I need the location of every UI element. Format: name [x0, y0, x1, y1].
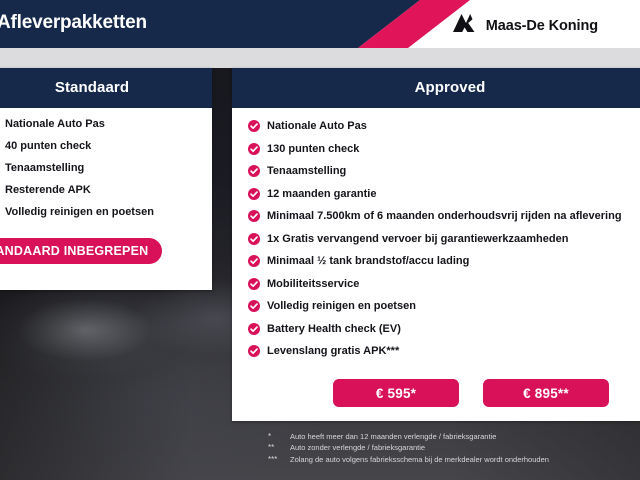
- list-item: Nationale Auto Pas: [0, 118, 198, 131]
- card-standaard: Standaard Nationale Auto Pas: [0, 68, 212, 290]
- feature-label: Volledig reinigen en poetsen: [267, 300, 416, 313]
- list-item: Tenaamstelling: [0, 162, 198, 175]
- check-circle-icon: [248, 345, 260, 357]
- feature-label: 12 maanden garantie: [267, 188, 376, 201]
- list-item: 40 punten check: [0, 140, 198, 153]
- price-button-row: € 595* € 895**: [232, 379, 640, 407]
- feature-label: Minimaal ½ tank brandstof/accu lading: [267, 255, 469, 268]
- price-button-595[interactable]: € 595*: [333, 379, 459, 407]
- page-title: Afleverpakketten: [0, 12, 147, 34]
- list-item: 12 maanden garantie: [248, 188, 640, 201]
- feature-label: Minimaal 7.500km of 6 maanden onderhouds…: [267, 210, 622, 223]
- list-item: Levenslang gratis APK***: [248, 345, 640, 358]
- maas-de-koning-m-mark-icon: [452, 13, 478, 38]
- promo-page: Afleverpakketten Maas-De Koning Standaar…: [0, 0, 640, 480]
- card-standaard-body: Nationale Auto Pas 40 punten check: [0, 108, 212, 219]
- check-circle-icon: [248, 210, 260, 222]
- footnote-text: Zolang de auto volgens fabrieksschema bi…: [290, 454, 549, 465]
- footnote-marker: **: [268, 442, 290, 453]
- check-circle-icon: [248, 300, 260, 312]
- brand-logo: Maas-De Koning: [452, 13, 598, 38]
- check-circle-icon: [248, 255, 260, 267]
- feature-label: Resterende APK: [5, 184, 91, 197]
- feature-label: Volledig reinigen en poetsen: [5, 206, 154, 219]
- card-approved-title: Approved: [232, 68, 640, 108]
- feature-label: Battery Health check (EV): [267, 323, 401, 336]
- check-circle-icon: [248, 165, 260, 177]
- list-item: Nationale Auto Pas: [248, 120, 640, 133]
- standaard-inbegrepen-button[interactable]: STANDAARD INBEGREPEN: [0, 238, 162, 264]
- card-approved: Approved Nationale Auto Pas: [232, 68, 640, 421]
- card-standaard-title: Standaard: [0, 68, 212, 108]
- list-item: Mobiliteitsservice: [248, 278, 640, 291]
- card-approved-body: Nationale Auto Pas 130 punten check: [232, 108, 640, 358]
- feature-label: 130 punten check: [267, 143, 359, 156]
- footnotes: * Auto heeft meer dan 12 maanden verleng…: [268, 431, 640, 465]
- footnote-row: *** Zolang de auto volgens fabrieksschem…: [268, 454, 640, 465]
- footnote-row: ** Auto zonder verlengde / fabrieksgaran…: [268, 442, 640, 453]
- footnote-row: * Auto heeft meer dan 12 maanden verleng…: [268, 431, 640, 442]
- page-header: Afleverpakketten Maas-De Koning: [0, 0, 640, 48]
- check-circle-icon: [248, 323, 260, 335]
- list-item: 130 punten check: [248, 143, 640, 156]
- brand-name: Maas-De Koning: [486, 18, 598, 34]
- feature-label: Nationale Auto Pas: [5, 118, 105, 131]
- check-circle-icon: [248, 278, 260, 290]
- footnote-text: Auto zonder verlengde / fabrieksgarantie: [290, 442, 425, 453]
- check-circle-icon: [248, 143, 260, 155]
- feature-label: Tenaamstelling: [5, 162, 84, 175]
- footnote-marker: *: [268, 431, 290, 442]
- list-item: Volledig reinigen en poetsen: [248, 300, 640, 313]
- list-item: Volledig reinigen en poetsen: [0, 206, 198, 219]
- list-item: Minimaal 7.500km of 6 maanden onderhouds…: [248, 210, 640, 223]
- check-circle-icon: [248, 120, 260, 132]
- feature-label: Mobiliteitsservice: [267, 278, 359, 291]
- feature-label: 40 punten check: [5, 140, 91, 153]
- list-item: Battery Health check (EV): [248, 323, 640, 336]
- footnote-text: Auto heeft meer dan 12 maanden verlengde…: [290, 431, 496, 442]
- list-item: 1x Gratis vervangend vervoer bij garanti…: [248, 233, 640, 246]
- feature-label: Levenslang gratis APK***: [267, 345, 399, 358]
- list-item: Resterende APK: [0, 184, 198, 197]
- feature-label: Nationale Auto Pas: [267, 120, 367, 133]
- feature-label: 1x Gratis vervangend vervoer bij garanti…: [267, 233, 568, 246]
- approved-feature-list: Nationale Auto Pas 130 punten check: [248, 120, 640, 358]
- check-circle-icon: [248, 188, 260, 200]
- standaard-feature-list: Nationale Auto Pas 40 punten check: [0, 118, 198, 219]
- check-circle-icon: [248, 233, 260, 245]
- header-gray-strip: [0, 48, 640, 68]
- footnote-marker: ***: [268, 454, 290, 465]
- price-button-895[interactable]: € 895**: [483, 379, 609, 407]
- list-item: Minimaal ½ tank brandstof/accu lading: [248, 255, 640, 268]
- feature-label: Tenaamstelling: [267, 165, 346, 178]
- list-item: Tenaamstelling: [248, 165, 640, 178]
